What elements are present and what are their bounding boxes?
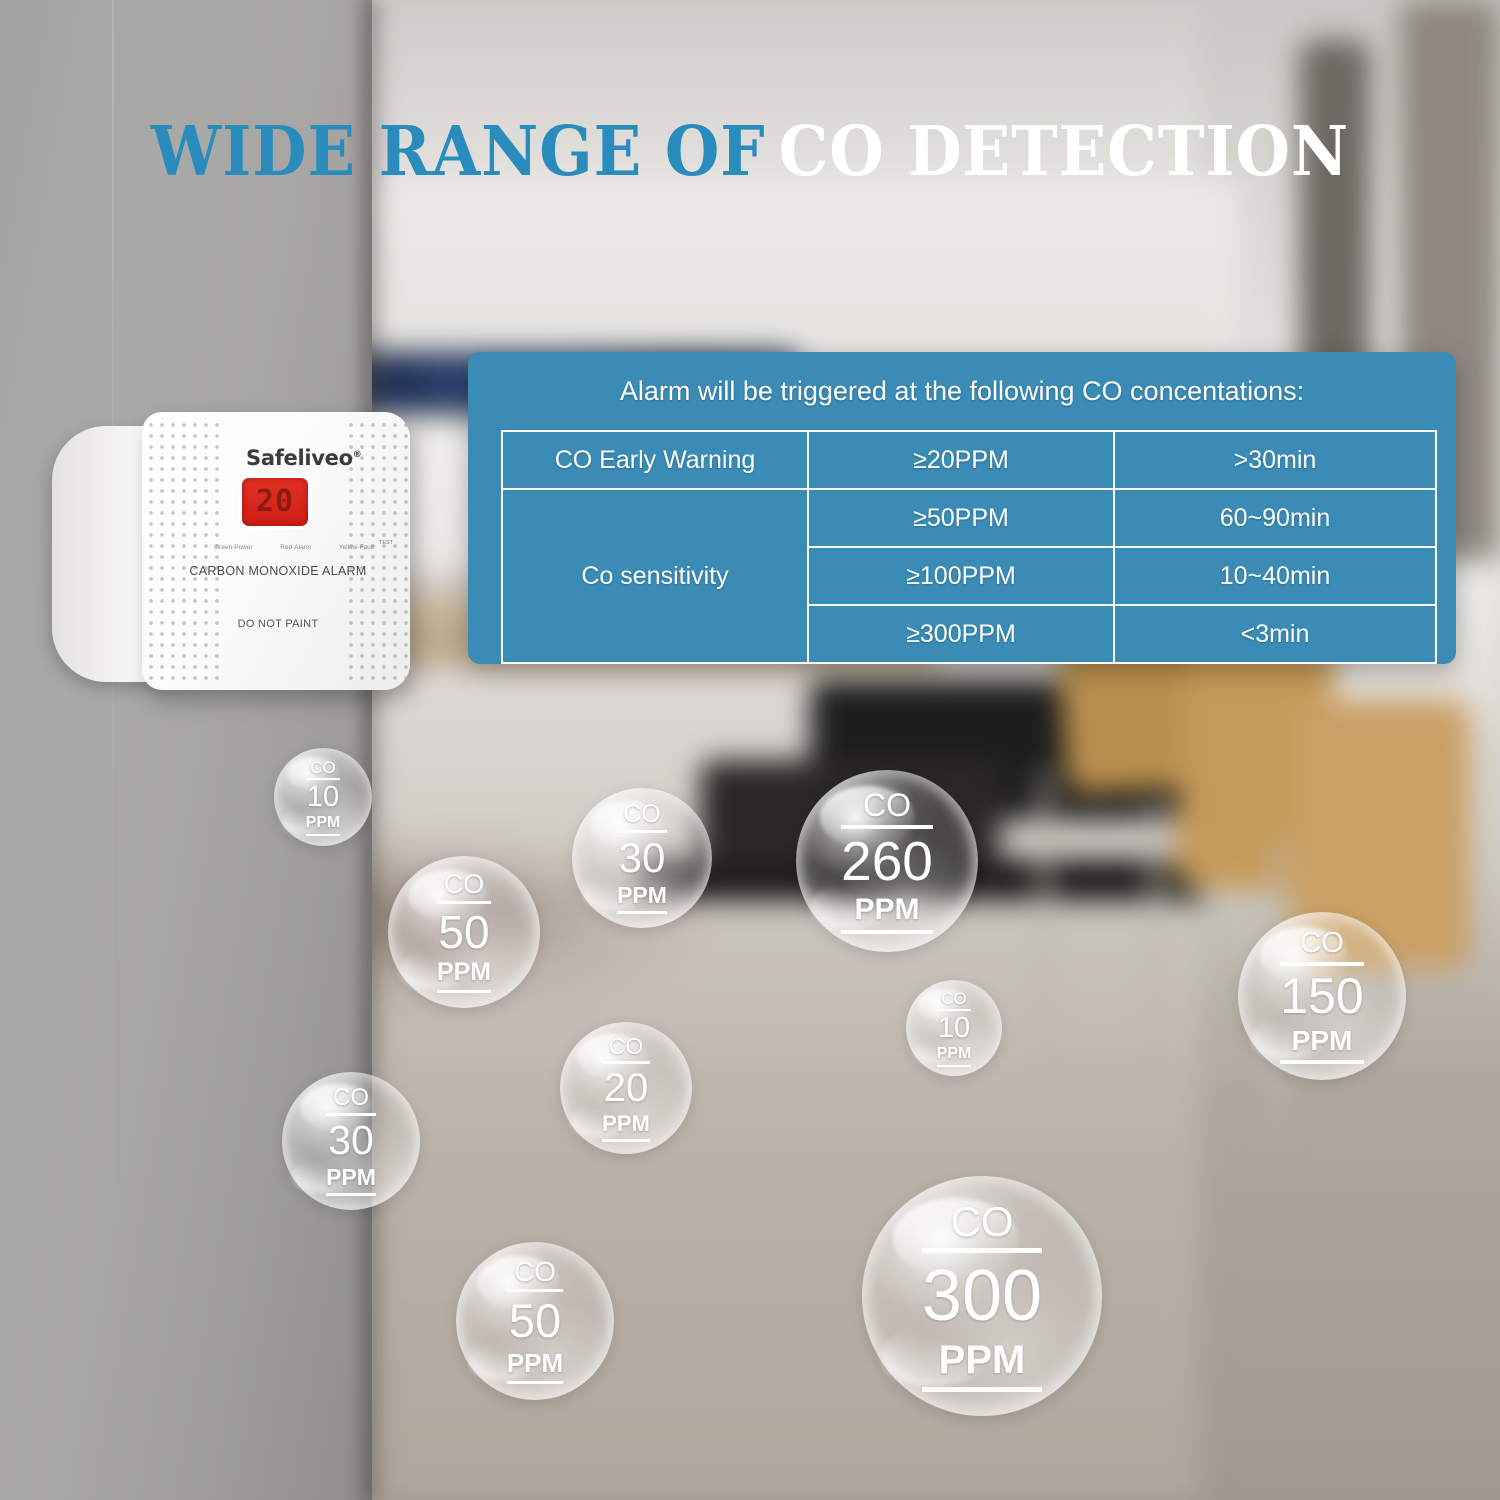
co-bubble-gas-label: CO (437, 871, 491, 904)
co-bubble-text: CO150PPM (1280, 929, 1363, 1064)
co-bubble-gas-label: CO (617, 802, 667, 833)
co-bubble-unit: PPM (922, 1340, 1042, 1392)
row-ppm-0: ≥20PPM (808, 431, 1114, 489)
table-row: Co sensitivity ≥50PPM 60~90min (502, 489, 1436, 547)
co-bubble: CO30PPM (282, 1072, 420, 1210)
co-bubble-text: CO10PPM (937, 990, 972, 1067)
co-bubble: CO20PPM (560, 1022, 692, 1154)
co-bubble-value: 150 (1280, 971, 1363, 1021)
co-bubble: CO10PPM (906, 980, 1002, 1076)
row-label-co-sensitivity: Co sensitivity (502, 489, 808, 663)
co-bubble-value: 50 (437, 909, 491, 955)
led-label-power: Green-Power (214, 544, 253, 551)
lcd-display: 20 (242, 478, 308, 526)
co-bubble: CO150PPM (1238, 912, 1406, 1080)
row-time-1: 60~90min (1114, 489, 1436, 547)
co-bubble-unit: PPM (617, 884, 667, 914)
device-front-face: Safeliveo® 20 Green-Power Red-Alarm Yell… (142, 412, 410, 690)
row-time-2: 10~40min (1114, 547, 1436, 605)
brand-logo: Safeliveo® (246, 446, 361, 470)
vent-grille-left (148, 422, 224, 680)
co-bubble-gas-label: CO (937, 990, 972, 1011)
co-bubble-text: CO30PPM (326, 1086, 376, 1196)
co-bubble-value: 300 (922, 1260, 1042, 1332)
co-concentration-table: CO Early Warning ≥20PPM >30min Co sensit… (501, 430, 1437, 664)
co-detector-device: Safeliveo® 20 Green-Power Red-Alarm Yell… (52, 404, 404, 704)
row-label-early-warning: CO Early Warning (502, 431, 808, 489)
co-bubble-value: 20 (602, 1068, 650, 1108)
co-bubble-value: 10 (937, 1014, 972, 1043)
co-bubble-value: 50 (507, 1297, 563, 1344)
brand-name: Safeliveo (246, 446, 353, 470)
co-bubble-text: CO260PPM (841, 789, 933, 934)
title-part-one: WIDE RANGE OF (151, 112, 766, 192)
co-bubble-unit: PPM (326, 1166, 376, 1196)
table-row: CO Early Warning ≥20PPM >30min (502, 431, 1436, 489)
co-bubble-gas-label: CO (326, 1086, 376, 1116)
row-ppm-1: ≥50PPM (808, 489, 1114, 547)
wall-corner-shadow (364, 0, 398, 1500)
led-legend: Green-Power Red-Alarm Yellow-Fault (214, 544, 374, 551)
co-bubble-value: 30 (326, 1120, 376, 1161)
co-bubble-unit: PPM (937, 1046, 972, 1067)
chair-leg-shape-1 (1040, 770, 1049, 1070)
co-bubble: CO260PPM (796, 770, 978, 952)
co-bubble-gas-label: CO (507, 1258, 563, 1292)
chair-leg-shape-2 (1150, 800, 1159, 1100)
co-bubble-gas-label: CO (306, 759, 341, 780)
co-bubble-text: CO300PPM (922, 1201, 1042, 1392)
title-part-two: CO DETECTION (779, 112, 1350, 192)
co-bubble-gas-label: CO (1280, 929, 1363, 966)
row-time-0: >30min (1114, 431, 1436, 489)
co-bubble-text: CO50PPM (507, 1258, 563, 1384)
row-time-3: <3min (1114, 605, 1436, 663)
spec-panel-heading: Alarm will be triggered at the following… (468, 376, 1456, 407)
test-button[interactable]: TEST (374, 540, 398, 566)
background-scene (0, 0, 1500, 1500)
device-model-label: CARBON MONOXIDE ALARM (178, 564, 378, 578)
co-bubble: CO30PPM (572, 788, 712, 928)
co-bubble-unit: PPM (437, 960, 491, 993)
co-bubble: CO50PPM (456, 1242, 614, 1400)
co-bubble-text: CO30PPM (617, 802, 667, 914)
test-button-label: TEST (374, 540, 398, 546)
co-bubble-gas-label: CO (602, 1035, 650, 1064)
co-bubble-unit: PPM (602, 1113, 650, 1142)
co-bubble-gas-label: CO (922, 1201, 1042, 1253)
co-bubble-value: 30 (617, 837, 667, 879)
do-not-paint-label: DO NOT PAINT (178, 618, 378, 630)
co-bubble: CO10PPM (274, 748, 372, 846)
co-bubble-gas-label: CO (841, 789, 933, 829)
co-bubble: CO50PPM (388, 856, 540, 1008)
co-bubble-unit: PPM (841, 895, 933, 934)
page-title: WIDE RANGE OFCO DETECTION (60, 118, 1440, 186)
led-label-fault: Yellow-Fault (339, 544, 374, 551)
row-ppm-3: ≥300PPM (808, 605, 1114, 663)
co-bubble-unit: PPM (507, 1350, 563, 1384)
co-bubble-unit: PPM (1280, 1027, 1363, 1064)
led-label-alarm: Red-Alarm (280, 544, 311, 551)
product-infographic: WIDE RANGE OFCO DETECTION Safeliveo® 20 … (0, 0, 1500, 1500)
co-bubble-text: CO20PPM (602, 1035, 650, 1142)
co-bubble: CO300PPM (862, 1176, 1102, 1416)
co-bubble-unit: PPM (306, 815, 341, 836)
spec-panel: Alarm will be triggered at the following… (468, 352, 1456, 664)
row-ppm-2: ≥100PPM (808, 547, 1114, 605)
lcd-value: 20 (256, 487, 294, 517)
registered-trademark-icon: ® (353, 450, 362, 460)
co-bubble-value: 10 (306, 783, 341, 812)
co-bubble-value: 260 (841, 834, 933, 889)
chair-rail-shape (1038, 1060, 1298, 1069)
co-bubble-text: CO10PPM (306, 759, 341, 836)
wall-seam (112, 0, 114, 1500)
co-bubble-text: CO50PPM (437, 871, 491, 993)
